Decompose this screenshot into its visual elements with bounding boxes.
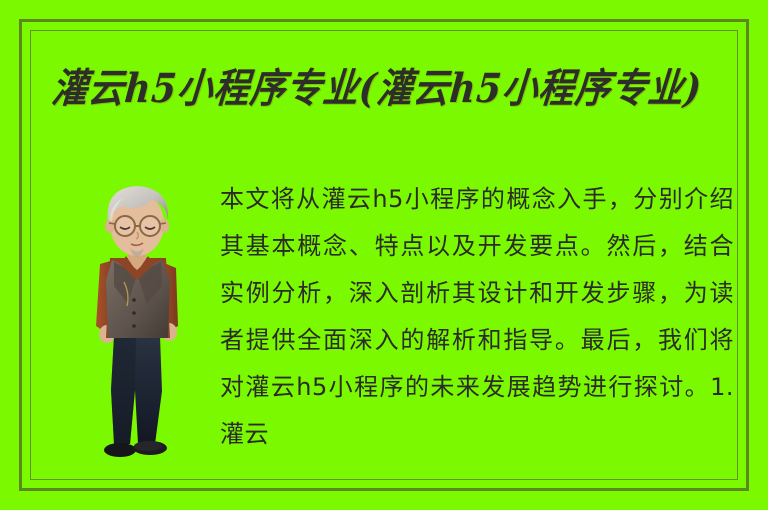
promo-banner: 灌云h5小程序专业(灌云h5小程序专业) 插画人物 xyxy=(0,0,768,510)
body-text: 本文将从灌云h5小程序的概念入手，分别介绍其基本概念、特点以及开发要点。然后，结… xyxy=(220,176,734,466)
body-paragraph: 本文将从灌云h5小程序的概念入手，分别介绍其基本概念、特点以及开发要点。然后，结… xyxy=(220,176,734,458)
man-with-glasses-avatar: 插画人物 xyxy=(62,176,212,476)
page-title: 灌云h5小程序专业(灌云h5小程序专业) xyxy=(49,52,752,125)
